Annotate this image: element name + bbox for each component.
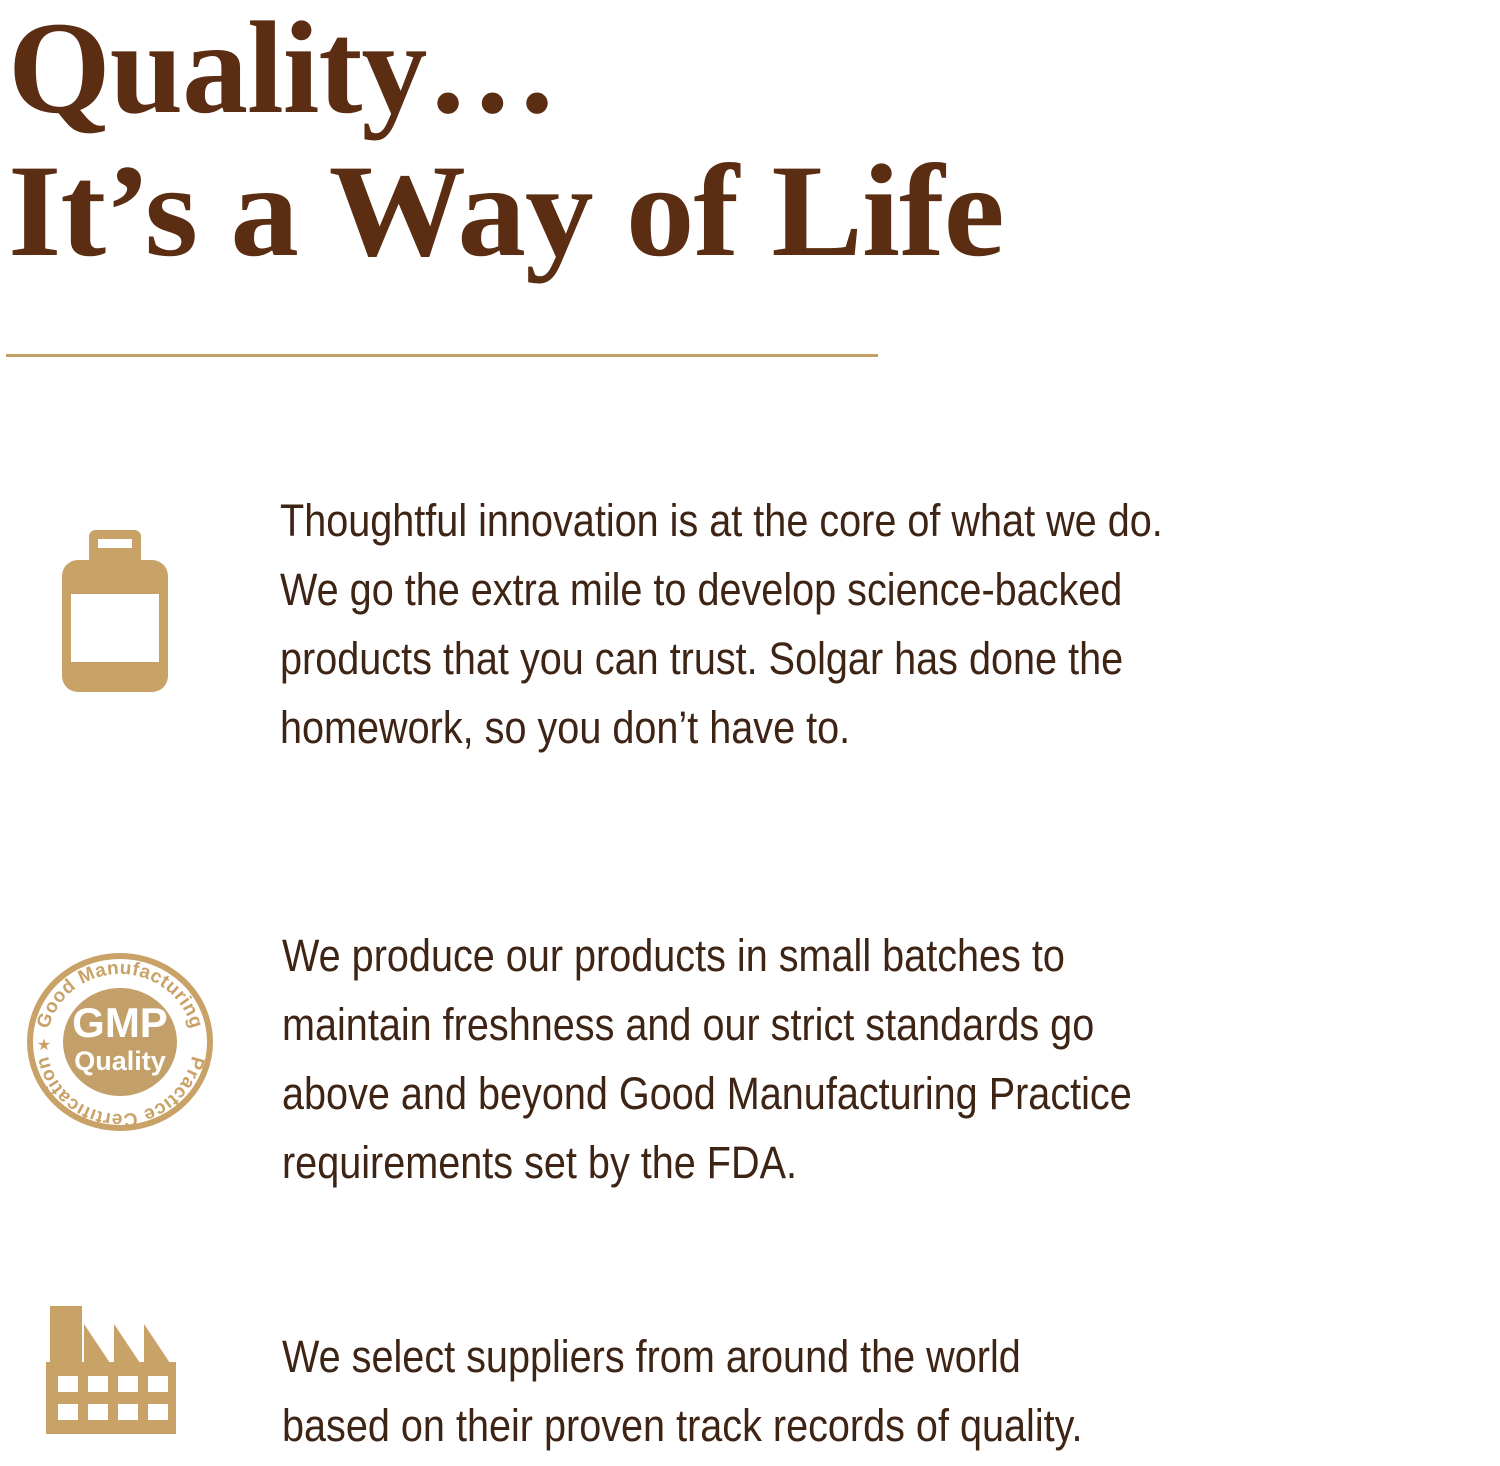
feature-text-innovation: Thoughtful innovation is at the core of … bbox=[280, 486, 1354, 762]
gmp-quality-seal-icon-wrapper: Good Manufacturing Practice Certificatio… bbox=[26, 951, 214, 1133]
supplement-bottle-icon-wrapper bbox=[62, 530, 168, 692]
gmp-quality-seal-icon: Good Manufacturing Practice Certificatio… bbox=[26, 951, 214, 1133]
page-title: Quality… It’s a Way of Life bbox=[8, 0, 1208, 280]
page-title-line-2: It’s a Way of Life bbox=[8, 142, 1256, 280]
factory-icon-wrapper bbox=[46, 1300, 194, 1436]
feature-row-suppliers: We select suppliers from around the worl… bbox=[0, 1292, 1500, 1460]
page-title-line-1: Quality… bbox=[8, 0, 1208, 142]
feature-row-gmp: Good Manufacturing Practice Certificatio… bbox=[0, 905, 1500, 1197]
feature-text-suppliers: We select suppliers from around the worl… bbox=[282, 1322, 1354, 1460]
factory-icon bbox=[46, 1300, 194, 1436]
feature-text-gmp: We produce our products in small batches… bbox=[282, 921, 1354, 1197]
svg-text:Quality: Quality bbox=[74, 1046, 166, 1076]
bottle-label-shape bbox=[71, 594, 159, 662]
svg-text:GMP: GMP bbox=[72, 999, 168, 1046]
svg-text:★: ★ bbox=[37, 1035, 51, 1054]
section-divider bbox=[6, 354, 878, 357]
feature-row-innovation: Thoughtful innovation is at the core of … bbox=[0, 486, 1500, 762]
supplement-bottle-icon bbox=[62, 530, 168, 692]
